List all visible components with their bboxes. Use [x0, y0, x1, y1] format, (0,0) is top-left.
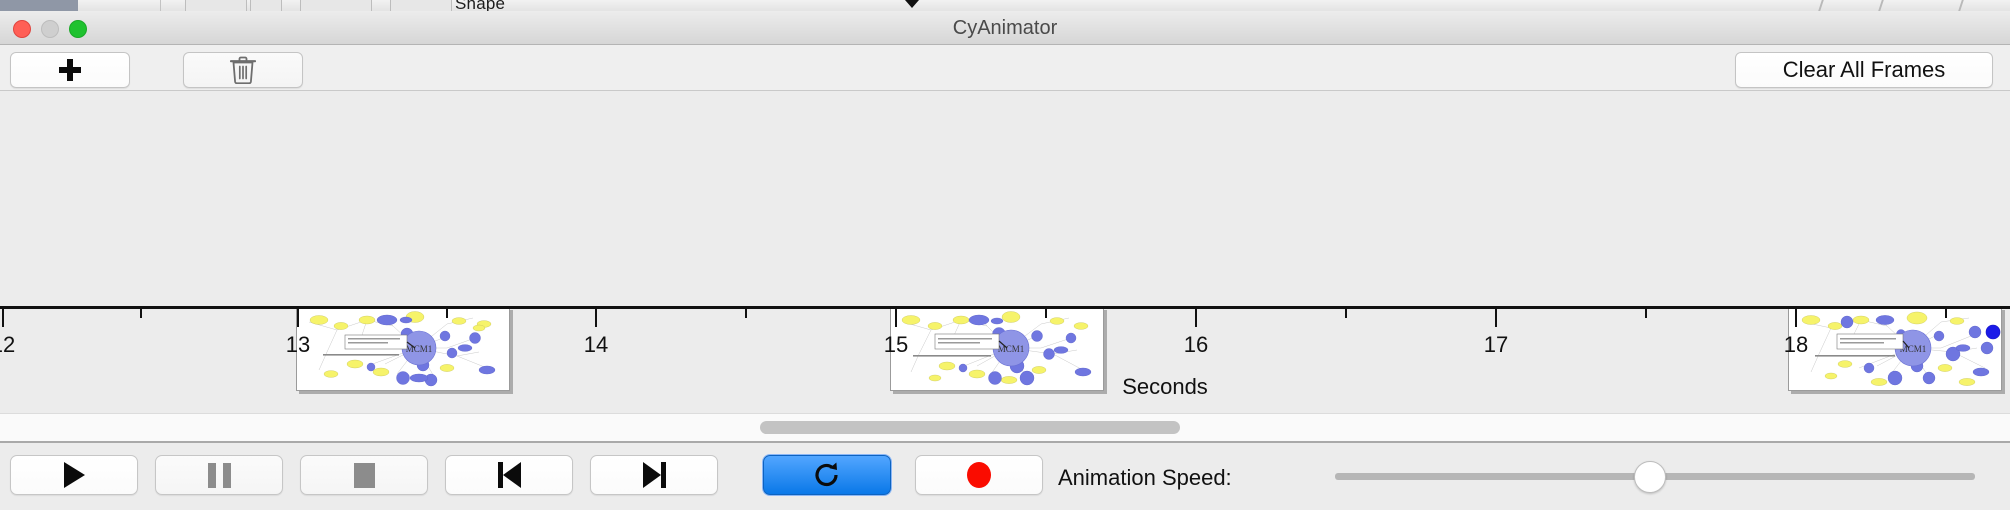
ruler-tick-label: 12: [0, 332, 15, 358]
background-divider: [1958, 0, 1974, 11]
ruler-tick: [1045, 309, 1047, 318]
animation-speed-label: Animation Speed:: [1058, 465, 1232, 491]
pause-button[interactable]: [155, 455, 283, 495]
ruler-tick-label: 14: [584, 332, 608, 358]
add-frame-button[interactable]: [10, 52, 130, 88]
skip-forward-button[interactable]: [590, 455, 718, 495]
stop-button[interactable]: [300, 455, 428, 495]
background-window-strip: Shape: [0, 0, 2010, 11]
play-button[interactable]: [10, 455, 138, 495]
ruler-tick: [1945, 309, 1947, 318]
ruler-tick: [1795, 309, 1797, 327]
ruler-tick: [595, 309, 597, 327]
ruler-tick: [1195, 309, 1197, 327]
timeline-ruler[interactable]: 12131415161718: [0, 306, 2010, 366]
ruler-axis-line: [0, 306, 2010, 309]
plus-icon: [59, 59, 81, 81]
transport-bar: Animation Speed:: [0, 441, 2010, 510]
skip-forward-icon: [643, 462, 666, 488]
background-app-label: Shape: [455, 0, 505, 11]
slider-thumb[interactable]: [1634, 461, 1666, 493]
animation-speed-slider[interactable]: [1335, 473, 1975, 480]
record-button[interactable]: [915, 455, 1043, 495]
background-divider: [1818, 0, 1834, 11]
scrollbar-thumb[interactable]: [760, 421, 1180, 434]
timeline-scrollbar[interactable]: [0, 413, 2010, 441]
trash-icon: [230, 56, 256, 84]
ruler-tick-label: 17: [1484, 332, 1508, 358]
cyanimator-window: Shape CyAnimator Clear All Frames: [0, 0, 2010, 510]
ruler-tick: [140, 309, 142, 318]
clear-all-frames-button[interactable]: Clear All Frames: [1735, 52, 1993, 88]
ruler-tick: [1345, 309, 1347, 318]
background-seam: [160, 0, 161, 11]
axis-title-label: Seconds: [1122, 374, 1208, 399]
ruler-tick-label: 16: [1184, 332, 1208, 358]
pause-icon: [208, 463, 231, 488]
ruler-tick: [1495, 309, 1497, 327]
title-bar[interactable]: CyAnimator: [0, 11, 2010, 45]
ruler-tick: [446, 309, 448, 318]
window-title: CyAnimator: [0, 17, 2010, 40]
background-tab: [185, 0, 247, 11]
toolbar: Clear All Frames: [0, 45, 2010, 91]
background-tab: [300, 0, 372, 11]
ruler-tick: [895, 309, 897, 327]
ruler-tick-label: 13: [286, 332, 310, 358]
ruler-tick: [297, 309, 299, 327]
ruler-tick: [745, 309, 747, 318]
skip-back-button[interactable]: [445, 455, 573, 495]
axis-title: Seconds: [0, 374, 2010, 400]
ruler-tick-label: 15: [884, 332, 908, 358]
clear-all-frames-label: Clear All Frames: [1783, 57, 1946, 83]
skip-back-icon: [498, 462, 521, 488]
delete-frame-button[interactable]: [183, 52, 303, 88]
ruler-tick: [1645, 309, 1647, 318]
background-tab: [250, 0, 282, 11]
loop-icon: [812, 460, 842, 490]
record-icon: [967, 462, 991, 488]
keyframe-strip: MCM1: [0, 91, 2010, 306]
timeline-panel: MCM1: [0, 91, 2010, 413]
play-icon: [64, 462, 85, 488]
ruler-tick-label: 18: [1784, 332, 1808, 358]
loop-button[interactable]: [763, 455, 891, 495]
background-selected-block: [0, 0, 78, 11]
background-caret-icon: [905, 0, 919, 8]
stop-icon: [354, 463, 375, 488]
background-divider: [1878, 0, 1894, 11]
background-tab: [390, 0, 452, 11]
ruler-tick: [2, 309, 4, 327]
